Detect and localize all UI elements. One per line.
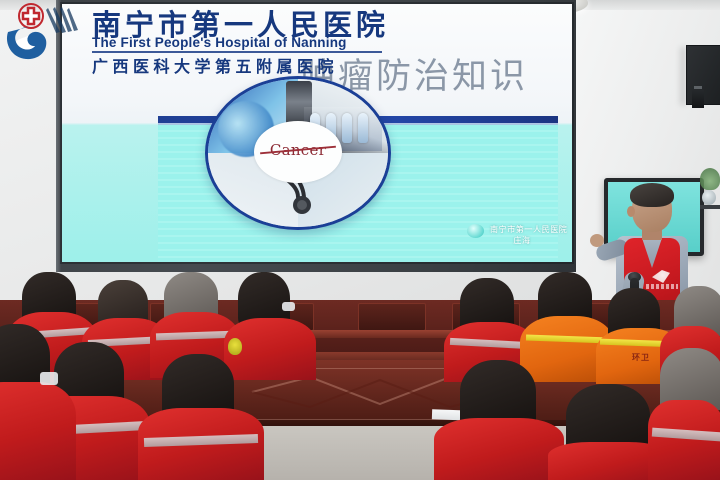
medical-collage-circle-icon: Cancer [205,76,391,230]
hospital-logo-icon [2,2,80,64]
attendee-body [434,418,564,480]
banner-affiliate-name: 广西医科大学第五附属医院 [92,53,338,77]
banner-hospital-name-en: The First People's Hospital of Nanning [92,35,347,50]
face-mask-icon [282,302,295,311]
slide-footer-org: 南宁市第一人民医院 [490,224,567,235]
vest-logo-text [646,284,678,289]
slide-footer-bullet-icon [467,224,484,238]
wall-speaker-mount [692,90,704,108]
face-mask-icon [40,372,58,385]
lecture-hall-photo: 肿瘤防治知识 [0,0,720,480]
slide-footer-presenter: 庄海 [490,235,554,246]
hospital-banner: 南宁市第一人民医院 The First People's Hospital of… [88,2,388,76]
uniform-badge-icon [228,338,242,355]
empty-chair [358,303,426,331]
presenter-left-hand [590,234,604,247]
attendee-body [0,382,76,480]
vial-icon [342,113,352,143]
vial-icon [358,113,368,143]
presenter-ear [627,206,635,217]
hivis-vest-text: 环卫 [632,352,650,363]
wall-speaker-led [694,86,702,89]
presenter-hair [630,183,674,207]
